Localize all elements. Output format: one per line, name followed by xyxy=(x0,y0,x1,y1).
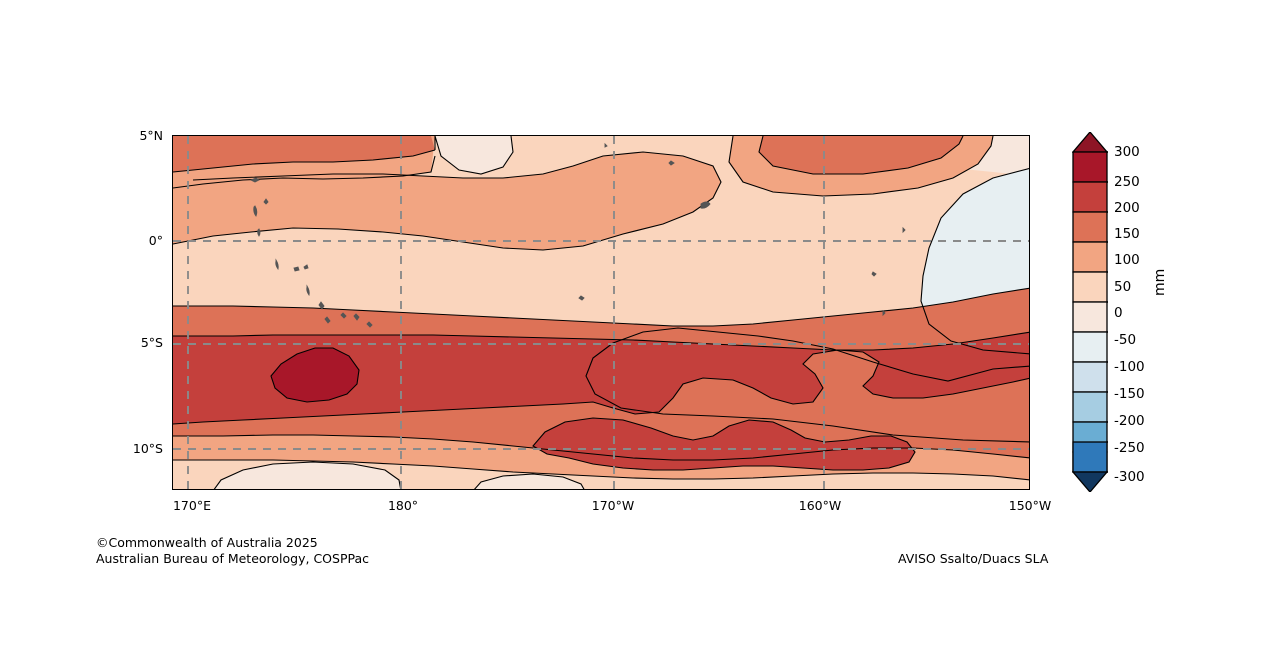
colorbar-bands xyxy=(1073,132,1108,492)
xtick-label-170w: 170°W xyxy=(558,498,668,513)
ytick-label-5n: 5°N xyxy=(0,128,163,143)
xtick-label-150w: 150°W xyxy=(975,498,1085,513)
colorbar-band-minus250-minus200b xyxy=(1073,442,1107,472)
colorbar-band-200-250 xyxy=(1073,182,1107,212)
colorbar-band-100-150 xyxy=(1073,242,1107,272)
xtick-label-170e: 170°E xyxy=(137,498,247,513)
copyright-line1: ©Commonwealth of Australia 2025 xyxy=(96,535,318,550)
colorbar-tick-m200: -200 xyxy=(1114,413,1145,429)
data-source-credit: AVISO Ssalto/Duacs SLA xyxy=(898,551,1048,566)
colorbar-band-0-50 xyxy=(1073,302,1107,332)
colorbar-band-50-100 xyxy=(1073,272,1107,302)
ytick-label-0: 0° xyxy=(0,233,163,248)
colorbar-tick-200: 200 xyxy=(1114,200,1140,216)
colorbar-band-minus50-0 xyxy=(1073,332,1107,362)
xtick-label-180: 180° xyxy=(348,498,458,513)
colorbar-tick-m300: -300 xyxy=(1114,469,1145,485)
colorbar-unit-label: mm xyxy=(1152,269,1168,296)
ytick-label-10s: 10°S xyxy=(0,441,163,456)
colorbar-tick-m50: -50 xyxy=(1114,332,1136,348)
colorbar-tick-m150: -150 xyxy=(1114,386,1145,402)
colorbar-band-250-300 xyxy=(1073,152,1107,182)
copyright-line2: Australian Bureau of Meteorology, COSPPa… xyxy=(96,551,369,566)
colorbar-tick-250: 250 xyxy=(1114,174,1140,190)
colorbar-tick-m250: -250 xyxy=(1114,440,1145,456)
colorbar-band-minus150-minus100 xyxy=(1073,392,1107,422)
colorbar-band-150-200 xyxy=(1073,212,1107,242)
colorbar-tick-150: 150 xyxy=(1114,226,1140,242)
anomaly-contour-map xyxy=(173,136,1030,490)
colorbar-extend-top xyxy=(1073,132,1107,152)
colorbar-extend-bottom xyxy=(1073,472,1107,492)
ytick-label-5s: 5°S xyxy=(0,335,163,350)
xtick-label-160w: 160°W xyxy=(765,498,875,513)
colorbar-tick-m100: -100 xyxy=(1114,359,1145,375)
copyright-credit: ©Commonwealth of Australia 2025 Australi… xyxy=(96,535,369,567)
colorbar[interactable] xyxy=(1072,132,1108,492)
sea-level-anomaly-figure: Kiribati Monthly Near Real Time Sea Leve… xyxy=(0,0,1262,667)
colorbar-band-minus100-minus50 xyxy=(1073,362,1107,392)
colorbar-tick-50: 50 xyxy=(1114,279,1131,295)
map-plot-area xyxy=(172,135,1030,490)
colorbar-tick-300: 300 xyxy=(1114,144,1140,160)
colorbar-tick-100: 100 xyxy=(1114,252,1140,268)
colorbar-tick-0: 0 xyxy=(1114,305,1123,321)
